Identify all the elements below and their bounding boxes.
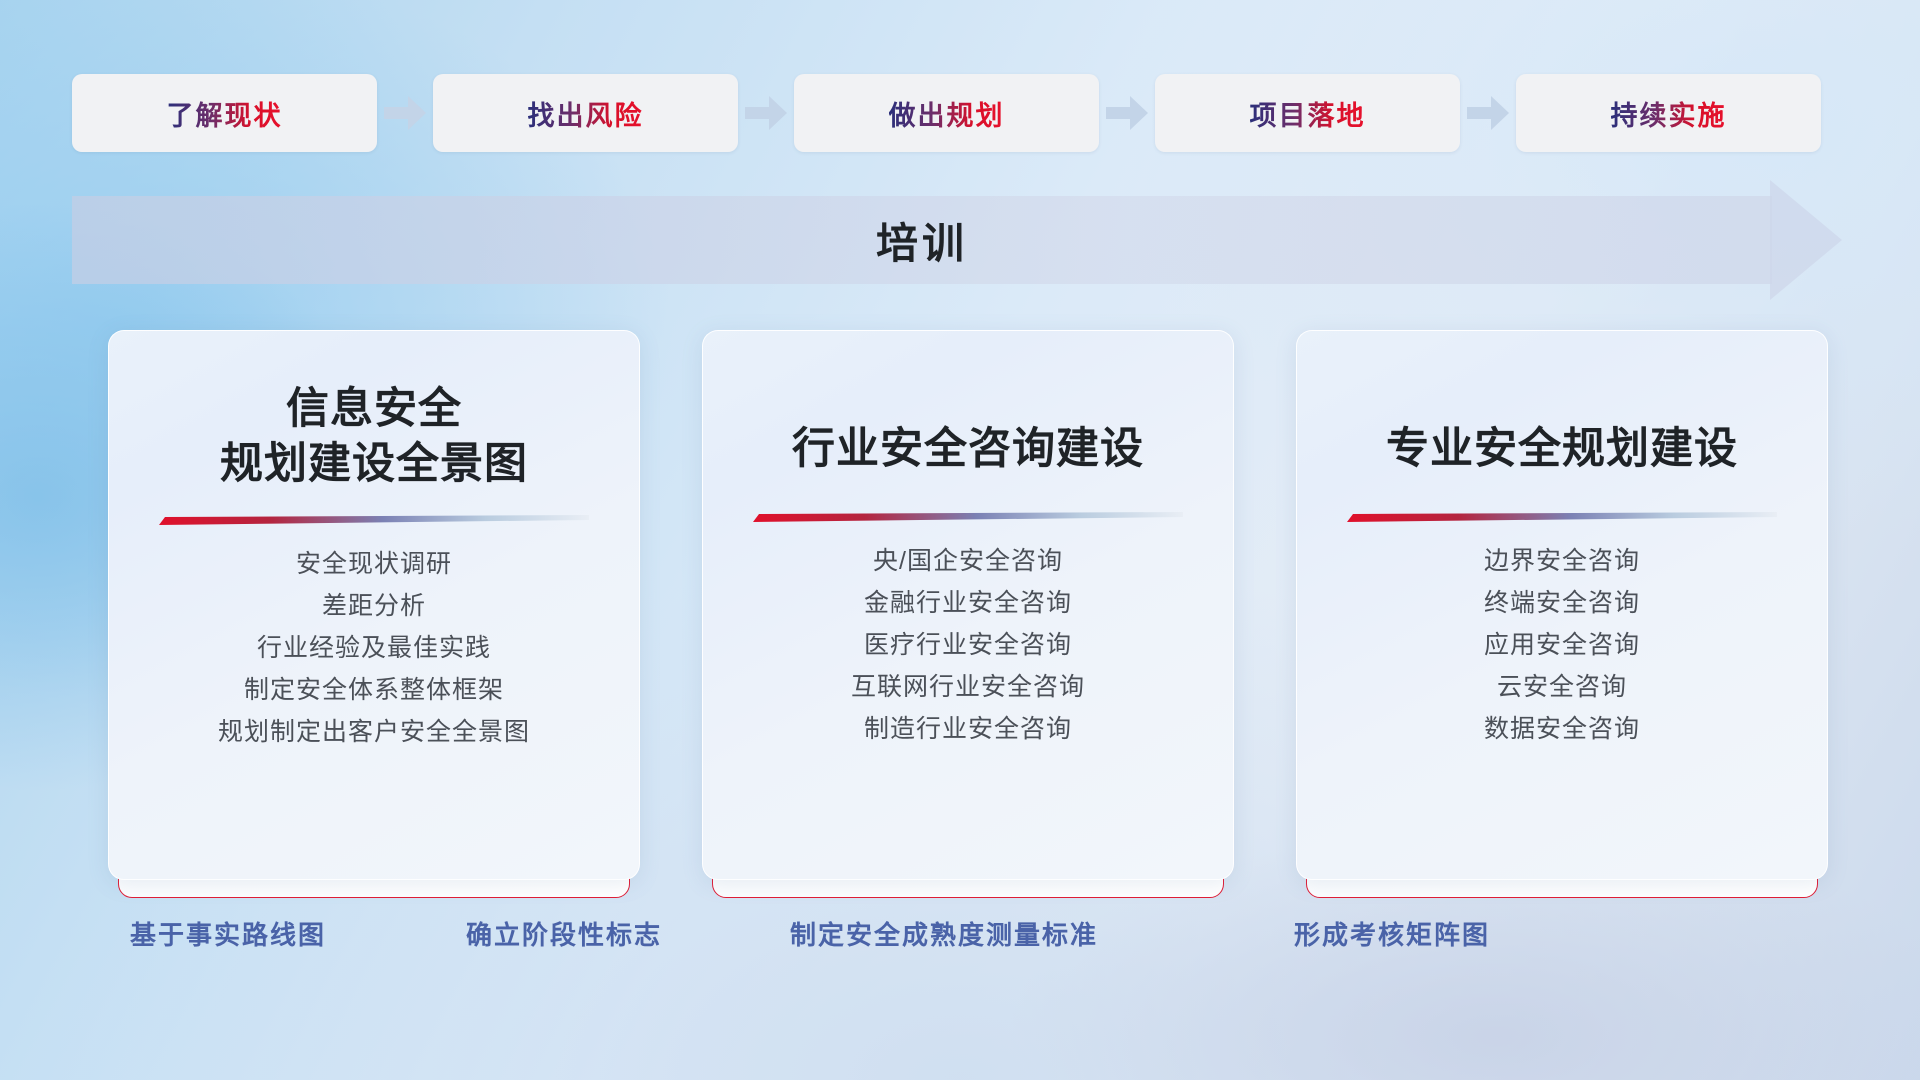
card-title: 行业安全咨询建设 <box>792 422 1144 477</box>
step-box-5[interactable]: 持续实施 <box>1516 74 1821 152</box>
list-item: 制定安全体系整体框架 <box>218 669 530 711</box>
footer-label-4: 形成考核矩阵图 <box>1294 915 1490 952</box>
banner-arrow-head-icon <box>1770 180 1842 300</box>
footer-label-2: 确立阶段性标志 <box>466 915 662 952</box>
list-item: 应用安全咨询 <box>1484 624 1640 666</box>
card-title-line-1: 行业安全咨询建设 <box>792 422 1144 477</box>
arrow-right-icon <box>1460 74 1516 152</box>
card-content: 专业安全规划建设 边界安 <box>1296 330 1828 880</box>
footer-label-row: 基于事实路线图 确立阶段性标志 制定安全成熟度测量标准 形成考核矩阵图 <box>0 915 1920 965</box>
list-item: 金融行业安全咨询 <box>851 582 1085 624</box>
card-title-line-1: 信息安全 <box>220 382 528 437</box>
step-label-4: 项目落地 <box>1250 94 1366 133</box>
list-item: 差距分析 <box>218 585 530 627</box>
list-item: 数据安全咨询 <box>1484 708 1640 750</box>
step-box-1[interactable]: 了解现状 <box>72 74 377 152</box>
list-item: 边界安全咨询 <box>1484 540 1640 582</box>
step-label-1: 了解现状 <box>167 94 283 133</box>
card-title: 专业安全规划建设 <box>1386 422 1738 477</box>
footer-label-1: 基于事实路线图 <box>130 915 326 952</box>
step-label-5: 持续实施 <box>1611 94 1727 133</box>
arrow-right-icon <box>377 74 433 152</box>
training-banner: 培训 <box>72 196 1842 284</box>
card-information-security-panorama[interactable]: 信息安全 规划建设全景图 <box>108 330 640 880</box>
list-item: 云安全咨询 <box>1484 666 1640 708</box>
card-item-list: 央/国企安全咨询 金融行业安全咨询 医疗行业安全咨询 互联网行业安全咨询 制造行… <box>851 540 1085 750</box>
card-item-list: 安全现状调研 差距分析 行业经验及最佳实践 制定安全体系整体框架 规划制定出客户… <box>218 543 530 753</box>
card-professional-security-planning[interactable]: 专业安全规划建设 边界安 <box>1296 330 1828 880</box>
list-item: 规划制定出客户安全全景图 <box>218 711 530 753</box>
card-content: 行业安全咨询建设 央/国 <box>702 330 1234 880</box>
card-title-line-1: 专业安全规划建设 <box>1386 422 1738 477</box>
arrow-right-icon <box>1099 74 1155 152</box>
card-industry-security-consulting[interactable]: 行业安全咨询建设 央/国 <box>702 330 1234 880</box>
card-content: 信息安全 规划建设全景图 <box>108 330 640 880</box>
step-box-2[interactable]: 找出风险 <box>433 74 738 152</box>
card-divider-icon <box>159 514 589 527</box>
card-title-line-2: 规划建设全景图 <box>220 437 528 492</box>
list-item: 终端安全咨询 <box>1484 582 1640 624</box>
arrow-right-icon <box>738 74 794 152</box>
list-item: 医疗行业安全咨询 <box>851 624 1085 666</box>
banner-title: 培训 <box>72 196 1772 284</box>
step-label-2: 找出风险 <box>528 94 644 133</box>
list-item: 行业经验及最佳实践 <box>218 627 530 669</box>
step-label-3: 做出规划 <box>889 94 1005 133</box>
footer-label-3: 制定安全成熟度测量标准 <box>790 915 1098 952</box>
list-item: 互联网行业安全咨询 <box>851 666 1085 708</box>
card-divider-icon <box>1347 511 1777 524</box>
step-box-4[interactable]: 项目落地 <box>1155 74 1460 152</box>
list-item: 安全现状调研 <box>218 543 530 585</box>
card-divider-icon <box>753 511 1183 524</box>
card-title: 信息安全 规划建设全景图 <box>220 382 528 492</box>
step-box-3[interactable]: 做出规划 <box>794 74 1099 152</box>
card-row: 信息安全 规划建设全景图 <box>0 330 1920 880</box>
card-item-list: 边界安全咨询 终端安全咨询 应用安全咨询 云安全咨询 数据安全咨询 <box>1484 540 1640 750</box>
list-item: 央/国企安全咨询 <box>851 540 1085 582</box>
list-item: 制造行业安全咨询 <box>851 708 1085 750</box>
process-step-row: 了解现状 找出风险 做出规划 项目落地 持续实施 <box>0 74 1920 152</box>
